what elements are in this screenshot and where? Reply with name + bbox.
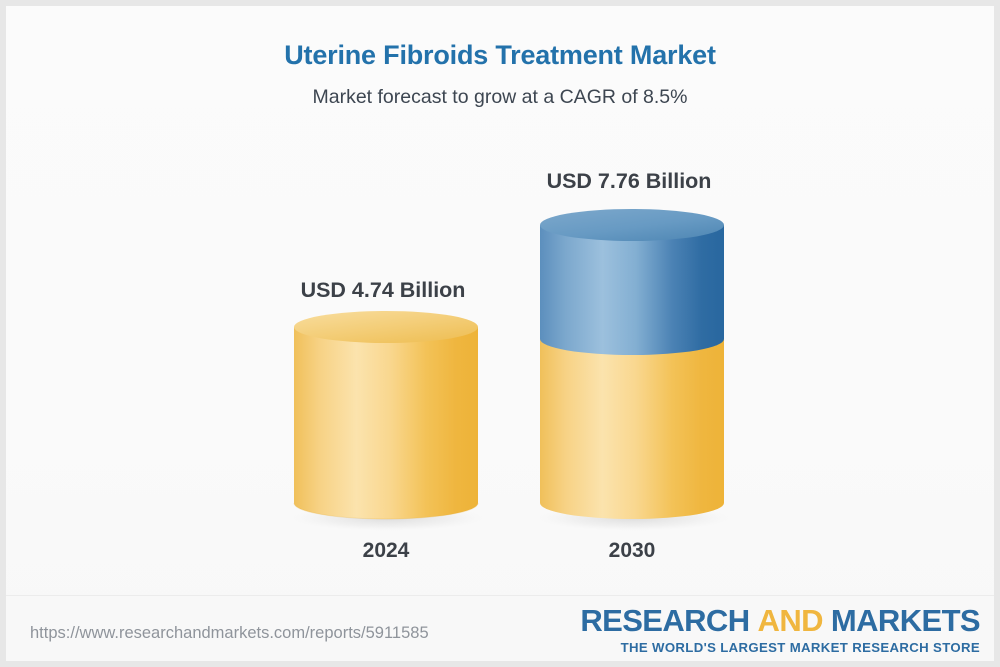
brand-word-and: AND <box>758 603 823 638</box>
brand-word-markets: MARKETS <box>831 603 980 638</box>
source-url-link[interactable]: https://www.researchandmarkets.com/repor… <box>30 624 429 643</box>
bar-category-label-2024: 2024 <box>256 539 516 563</box>
brand-logo[interactable]: RESEARCH AND MARKETS THE WORLD'S LARGEST… <box>580 604 980 656</box>
brand-wordmark: RESEARCH AND MARKETS <box>580 604 980 638</box>
bar-value-label-2024: USD 4.74 Billion <box>253 278 513 303</box>
bar-cylinder-2030 <box>534 201 730 533</box>
brand-tagline: THE WORLD'S LARGEST MARKET RESEARCH STOR… <box>580 640 980 656</box>
infographic-canvas: Uterine Fibroids Treatment Market Market… <box>0 0 1000 667</box>
bar-value-label-2030: USD 7.76 Billion <box>499 169 759 194</box>
bar-category-label-2030: 2030 <box>502 539 762 563</box>
chart-plot-area: USD 4.74 Billion <box>6 6 994 601</box>
footer: https://www.researchandmarkets.com/repor… <box>6 596 994 661</box>
chart-canvas: Uterine Fibroids Treatment Market Market… <box>6 6 994 661</box>
brand-word-research: RESEARCH <box>580 603 749 638</box>
bar-cylinder-2024 <box>288 311 484 533</box>
